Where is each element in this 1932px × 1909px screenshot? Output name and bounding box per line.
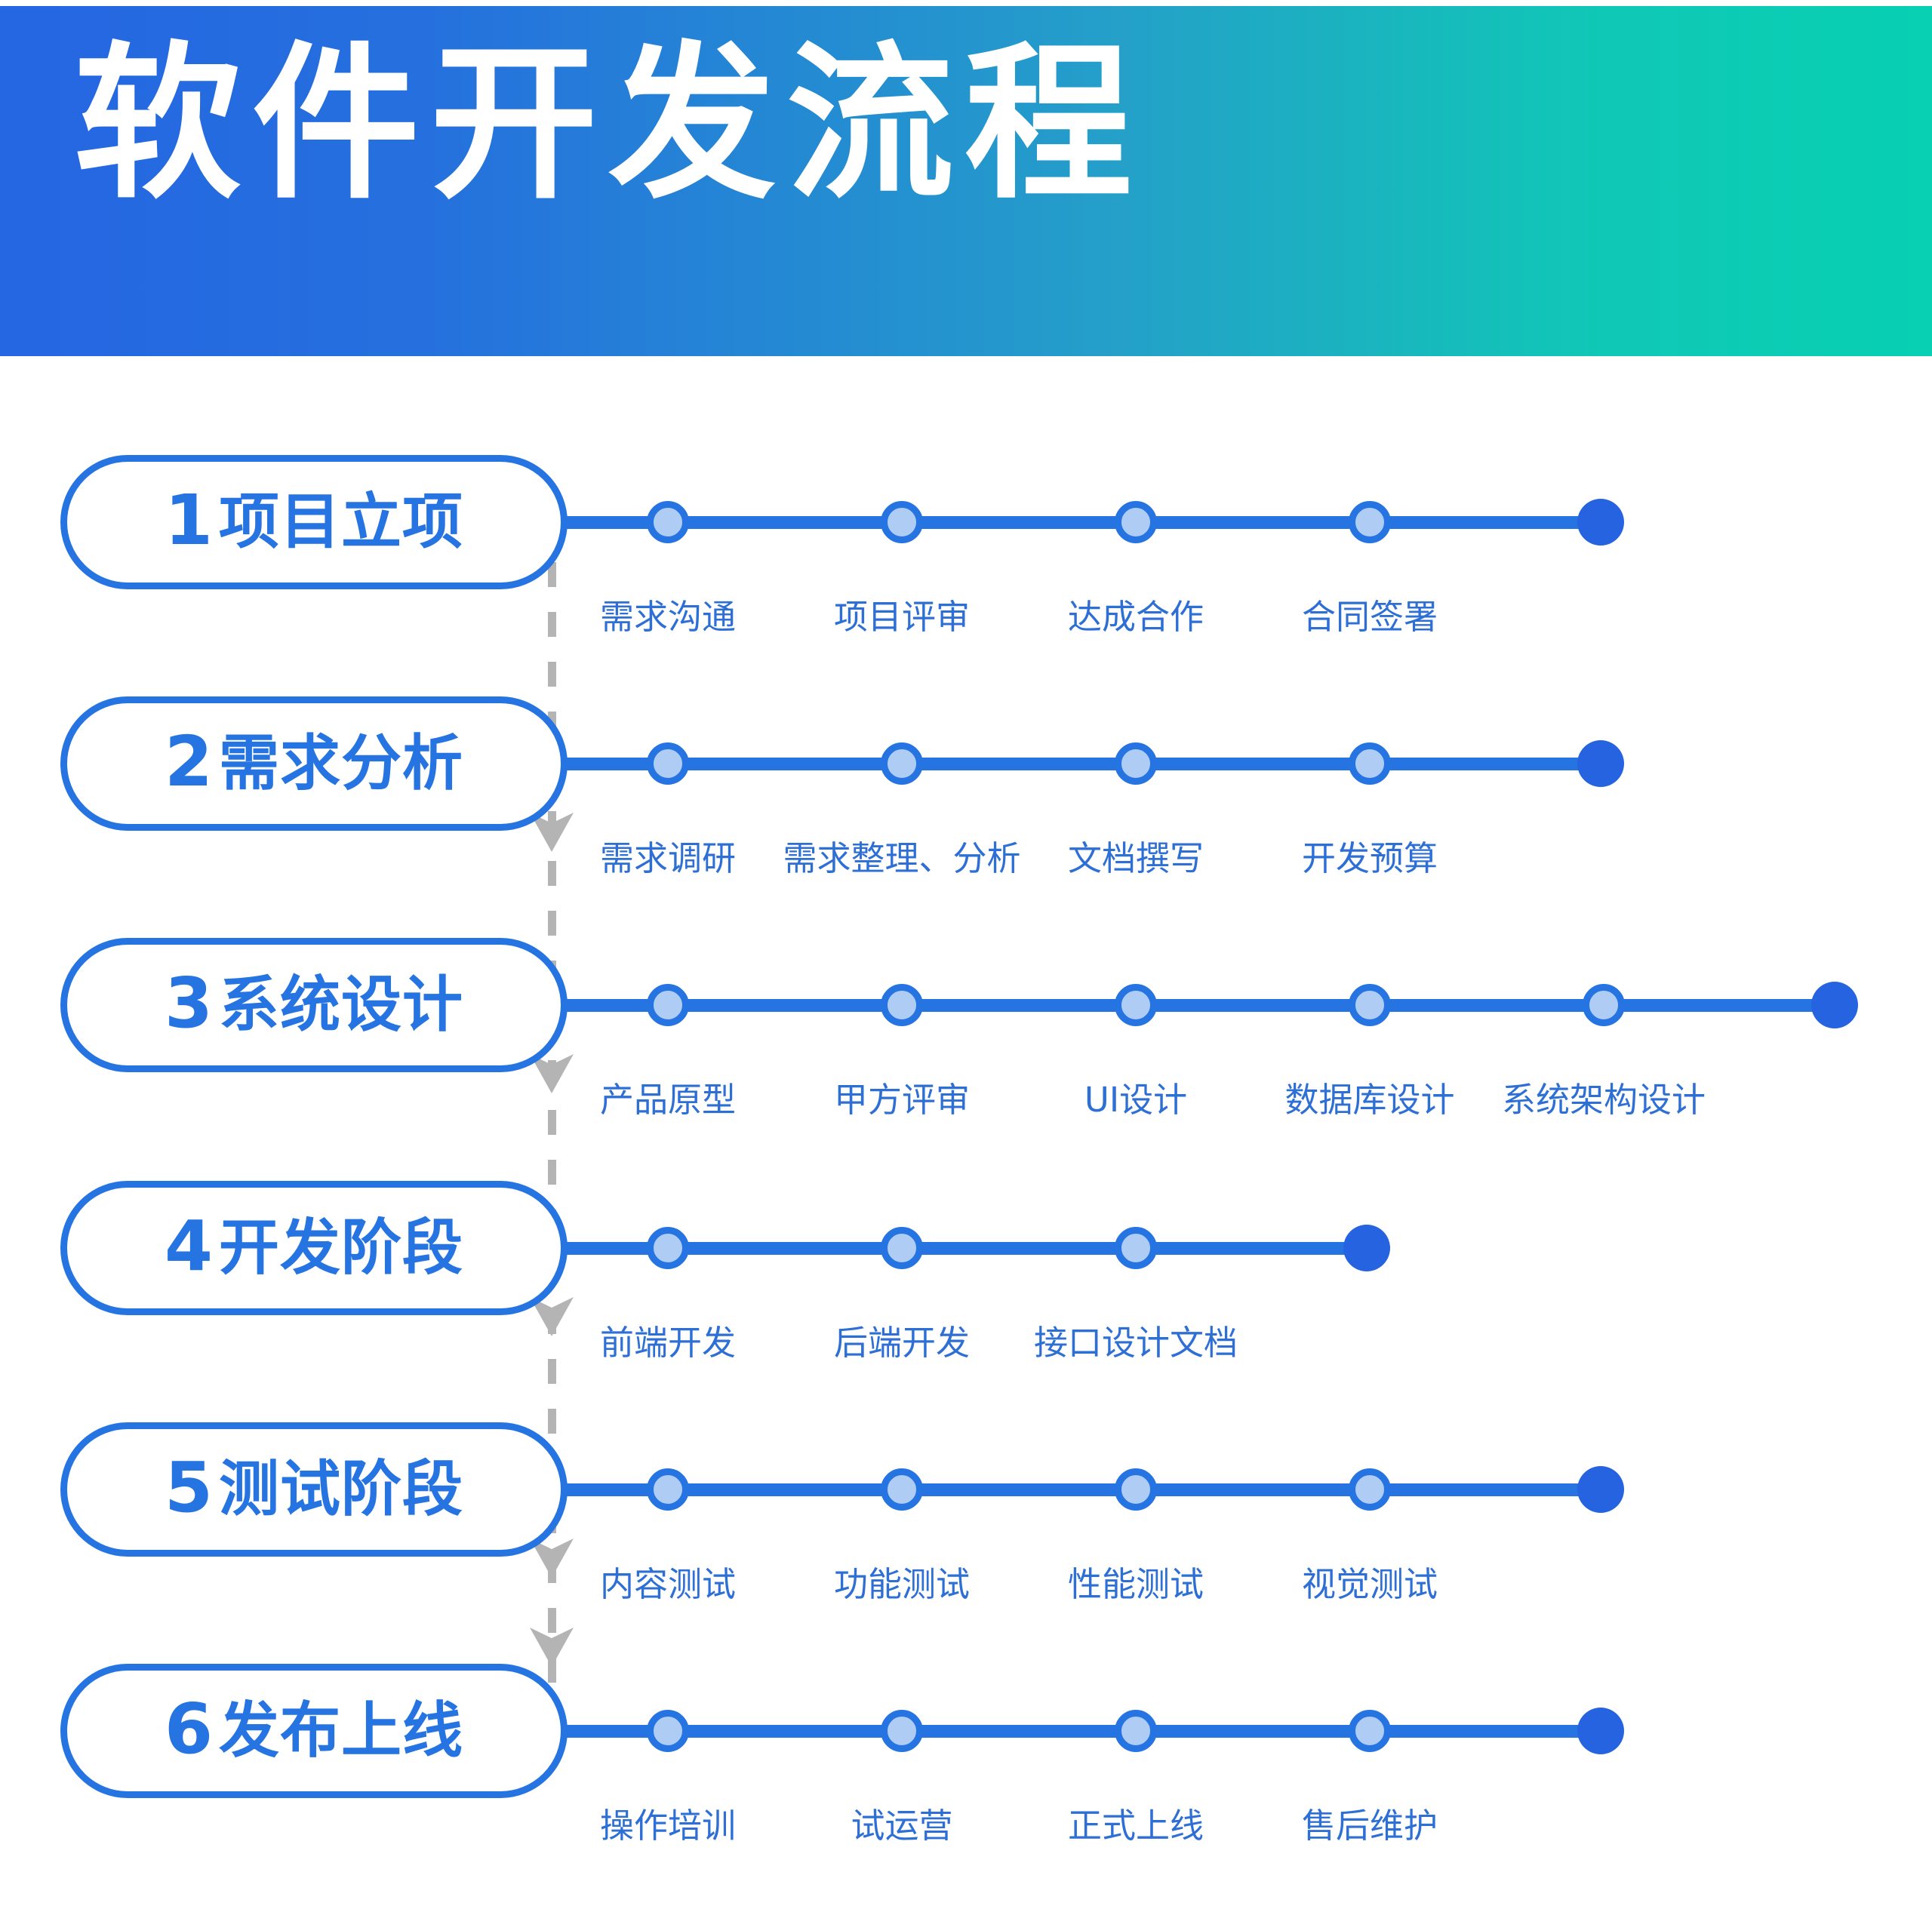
stage-number: 4 bbox=[165, 1212, 213, 1281]
timeline-node[interactable] bbox=[1349, 1710, 1391, 1752]
timeline-bar bbox=[561, 758, 1601, 770]
task-label: 数据库设计 bbox=[1284, 1083, 1454, 1117]
stage-pill-5[interactable]: 5测试阶段 bbox=[60, 1422, 568, 1557]
timeline-node[interactable] bbox=[1349, 1468, 1391, 1511]
task-label: 文档撰写 bbox=[1068, 841, 1204, 875]
task-label: 前端开发 bbox=[600, 1326, 736, 1360]
timeline-node[interactable] bbox=[1349, 984, 1391, 1026]
task-label: 合同签署 bbox=[1302, 600, 1438, 634]
timeline-node[interactable] bbox=[1349, 742, 1391, 785]
task-label: UI设计 bbox=[1084, 1083, 1187, 1117]
timeline-node[interactable] bbox=[647, 1710, 689, 1752]
timeline-bar bbox=[561, 516, 1601, 529]
header-banner: 软件开发流程 bbox=[0, 6, 1932, 356]
stage-number: 2 bbox=[165, 727, 213, 797]
stage-pill-1[interactable]: 1项目立项 bbox=[60, 455, 568, 589]
stage-name: 需求分析 bbox=[219, 733, 463, 794]
stage-row: 2需求分析需求调研需求整理、分析文档撰写开发预算 bbox=[0, 690, 1932, 864]
task-label: 操作培训 bbox=[600, 1809, 736, 1843]
task-label: 开发预算 bbox=[1302, 841, 1438, 875]
stage-number: 6 bbox=[165, 1695, 213, 1764]
task-label: 后端开发 bbox=[834, 1326, 970, 1360]
timeline-node[interactable] bbox=[647, 984, 689, 1026]
timeline-node[interactable] bbox=[881, 501, 923, 543]
timeline-node[interactable] bbox=[647, 1468, 689, 1511]
stage-row: 1项目立项需求沟通项目评审达成合作合同签署 bbox=[0, 449, 1932, 622]
stage-number: 3 bbox=[165, 969, 213, 1038]
timeline-node[interactable] bbox=[881, 1710, 923, 1752]
stage-row: 6发布上线操作培训试运营正式上线售后维护 bbox=[0, 1658, 1932, 1831]
timeline-node[interactable] bbox=[1583, 984, 1625, 1026]
infographic-poster: 软件开发流程 1项目立项需求沟通项目评审达成合作合同签署2需求分析需求调研需求整… bbox=[0, 0, 1932, 1909]
stage-name: 项目立项 bbox=[219, 492, 463, 552]
task-label: 视觉测试 bbox=[1302, 1567, 1438, 1601]
stage-pill-3[interactable]: 3系统设计 bbox=[60, 938, 568, 1072]
task-label: 需求整理、分析 bbox=[783, 841, 1020, 875]
timeline-node[interactable] bbox=[647, 501, 689, 543]
page-title: 软件开发流程 bbox=[74, 41, 1143, 208]
stage-name: 发布上线 bbox=[219, 1701, 463, 1761]
timeline-end-dot bbox=[1811, 982, 1858, 1028]
stage-pill-6[interactable]: 6发布上线 bbox=[60, 1664, 568, 1798]
task-label: 性能测试 bbox=[1068, 1567, 1204, 1601]
task-label: 需求沟通 bbox=[600, 600, 736, 634]
timeline-node[interactable] bbox=[647, 742, 689, 785]
stage-number: 5 bbox=[165, 1453, 213, 1523]
timeline-end-dot bbox=[1577, 740, 1624, 787]
timeline-node[interactable] bbox=[647, 1227, 689, 1269]
task-label: 甲方评审 bbox=[834, 1083, 970, 1117]
timeline-bar bbox=[561, 1483, 1601, 1496]
timeline-end-dot bbox=[1577, 499, 1624, 546]
timeline-node[interactable] bbox=[1115, 1227, 1157, 1269]
stage-name: 开发阶段 bbox=[219, 1218, 463, 1278]
stage-timeline: 需求调研需求整理、分析文档撰写开发预算 bbox=[561, 752, 1631, 775]
timeline-node[interactable] bbox=[1115, 501, 1157, 543]
timeline-node[interactable] bbox=[1115, 1710, 1157, 1752]
timeline-node[interactable] bbox=[881, 984, 923, 1026]
task-label: 达成合作 bbox=[1068, 600, 1204, 634]
task-label: 试运营 bbox=[851, 1809, 952, 1843]
stage-timeline: 操作培训试运营正式上线售后维护 bbox=[561, 1720, 1631, 1742]
stage-row: 5测试阶段内容测试功能测试性能测试视觉测试 bbox=[0, 1416, 1932, 1590]
task-label: 功能测试 bbox=[834, 1567, 970, 1601]
timeline-node[interactable] bbox=[881, 1468, 923, 1511]
task-label: 产品原型 bbox=[600, 1083, 736, 1117]
task-label: 售后维护 bbox=[1302, 1809, 1438, 1843]
task-label: 系统架构设计 bbox=[1502, 1083, 1706, 1117]
stage-timeline: 需求沟通项目评审达成合作合同签署 bbox=[561, 511, 1631, 533]
stage-timeline: 产品原型甲方评审UI设计数据库设计系统架构设计 bbox=[561, 994, 1865, 1016]
stage-name: 系统设计 bbox=[219, 975, 463, 1035]
timeline-bar bbox=[561, 1725, 1601, 1738]
stage-timeline: 内容测试功能测试性能测试视觉测试 bbox=[561, 1478, 1631, 1501]
task-label: 接口设计文档 bbox=[1034, 1326, 1238, 1360]
stage-pill-2[interactable]: 2需求分析 bbox=[60, 696, 568, 831]
timeline-node[interactable] bbox=[1349, 501, 1391, 543]
timeline-node[interactable] bbox=[1115, 742, 1157, 785]
stage-number: 1 bbox=[165, 486, 213, 555]
task-label: 正式上线 bbox=[1068, 1809, 1204, 1843]
task-label: 内容测试 bbox=[600, 1567, 736, 1601]
stage-name: 测试阶段 bbox=[219, 1459, 463, 1520]
timeline-bar bbox=[561, 999, 1835, 1012]
timeline-end-dot bbox=[1577, 1708, 1624, 1754]
stage-row: 3系统设计产品原型甲方评审UI设计数据库设计系统架构设计 bbox=[0, 932, 1932, 1105]
timeline-end-dot bbox=[1343, 1225, 1390, 1271]
task-label: 需求调研 bbox=[600, 841, 736, 875]
timeline-end-dot bbox=[1577, 1466, 1624, 1513]
timeline-node[interactable] bbox=[881, 1227, 923, 1269]
timeline-node[interactable] bbox=[1115, 984, 1157, 1026]
stage-timeline: 前端开发后端开发接口设计文档 bbox=[561, 1237, 1397, 1259]
task-label: 项目评审 bbox=[834, 600, 970, 634]
stage-row: 4开发阶段前端开发后端开发接口设计文档 bbox=[0, 1175, 1932, 1348]
timeline-node[interactable] bbox=[881, 742, 923, 785]
stage-pill-4[interactable]: 4开发阶段 bbox=[60, 1181, 568, 1315]
timeline-node[interactable] bbox=[1115, 1468, 1157, 1511]
